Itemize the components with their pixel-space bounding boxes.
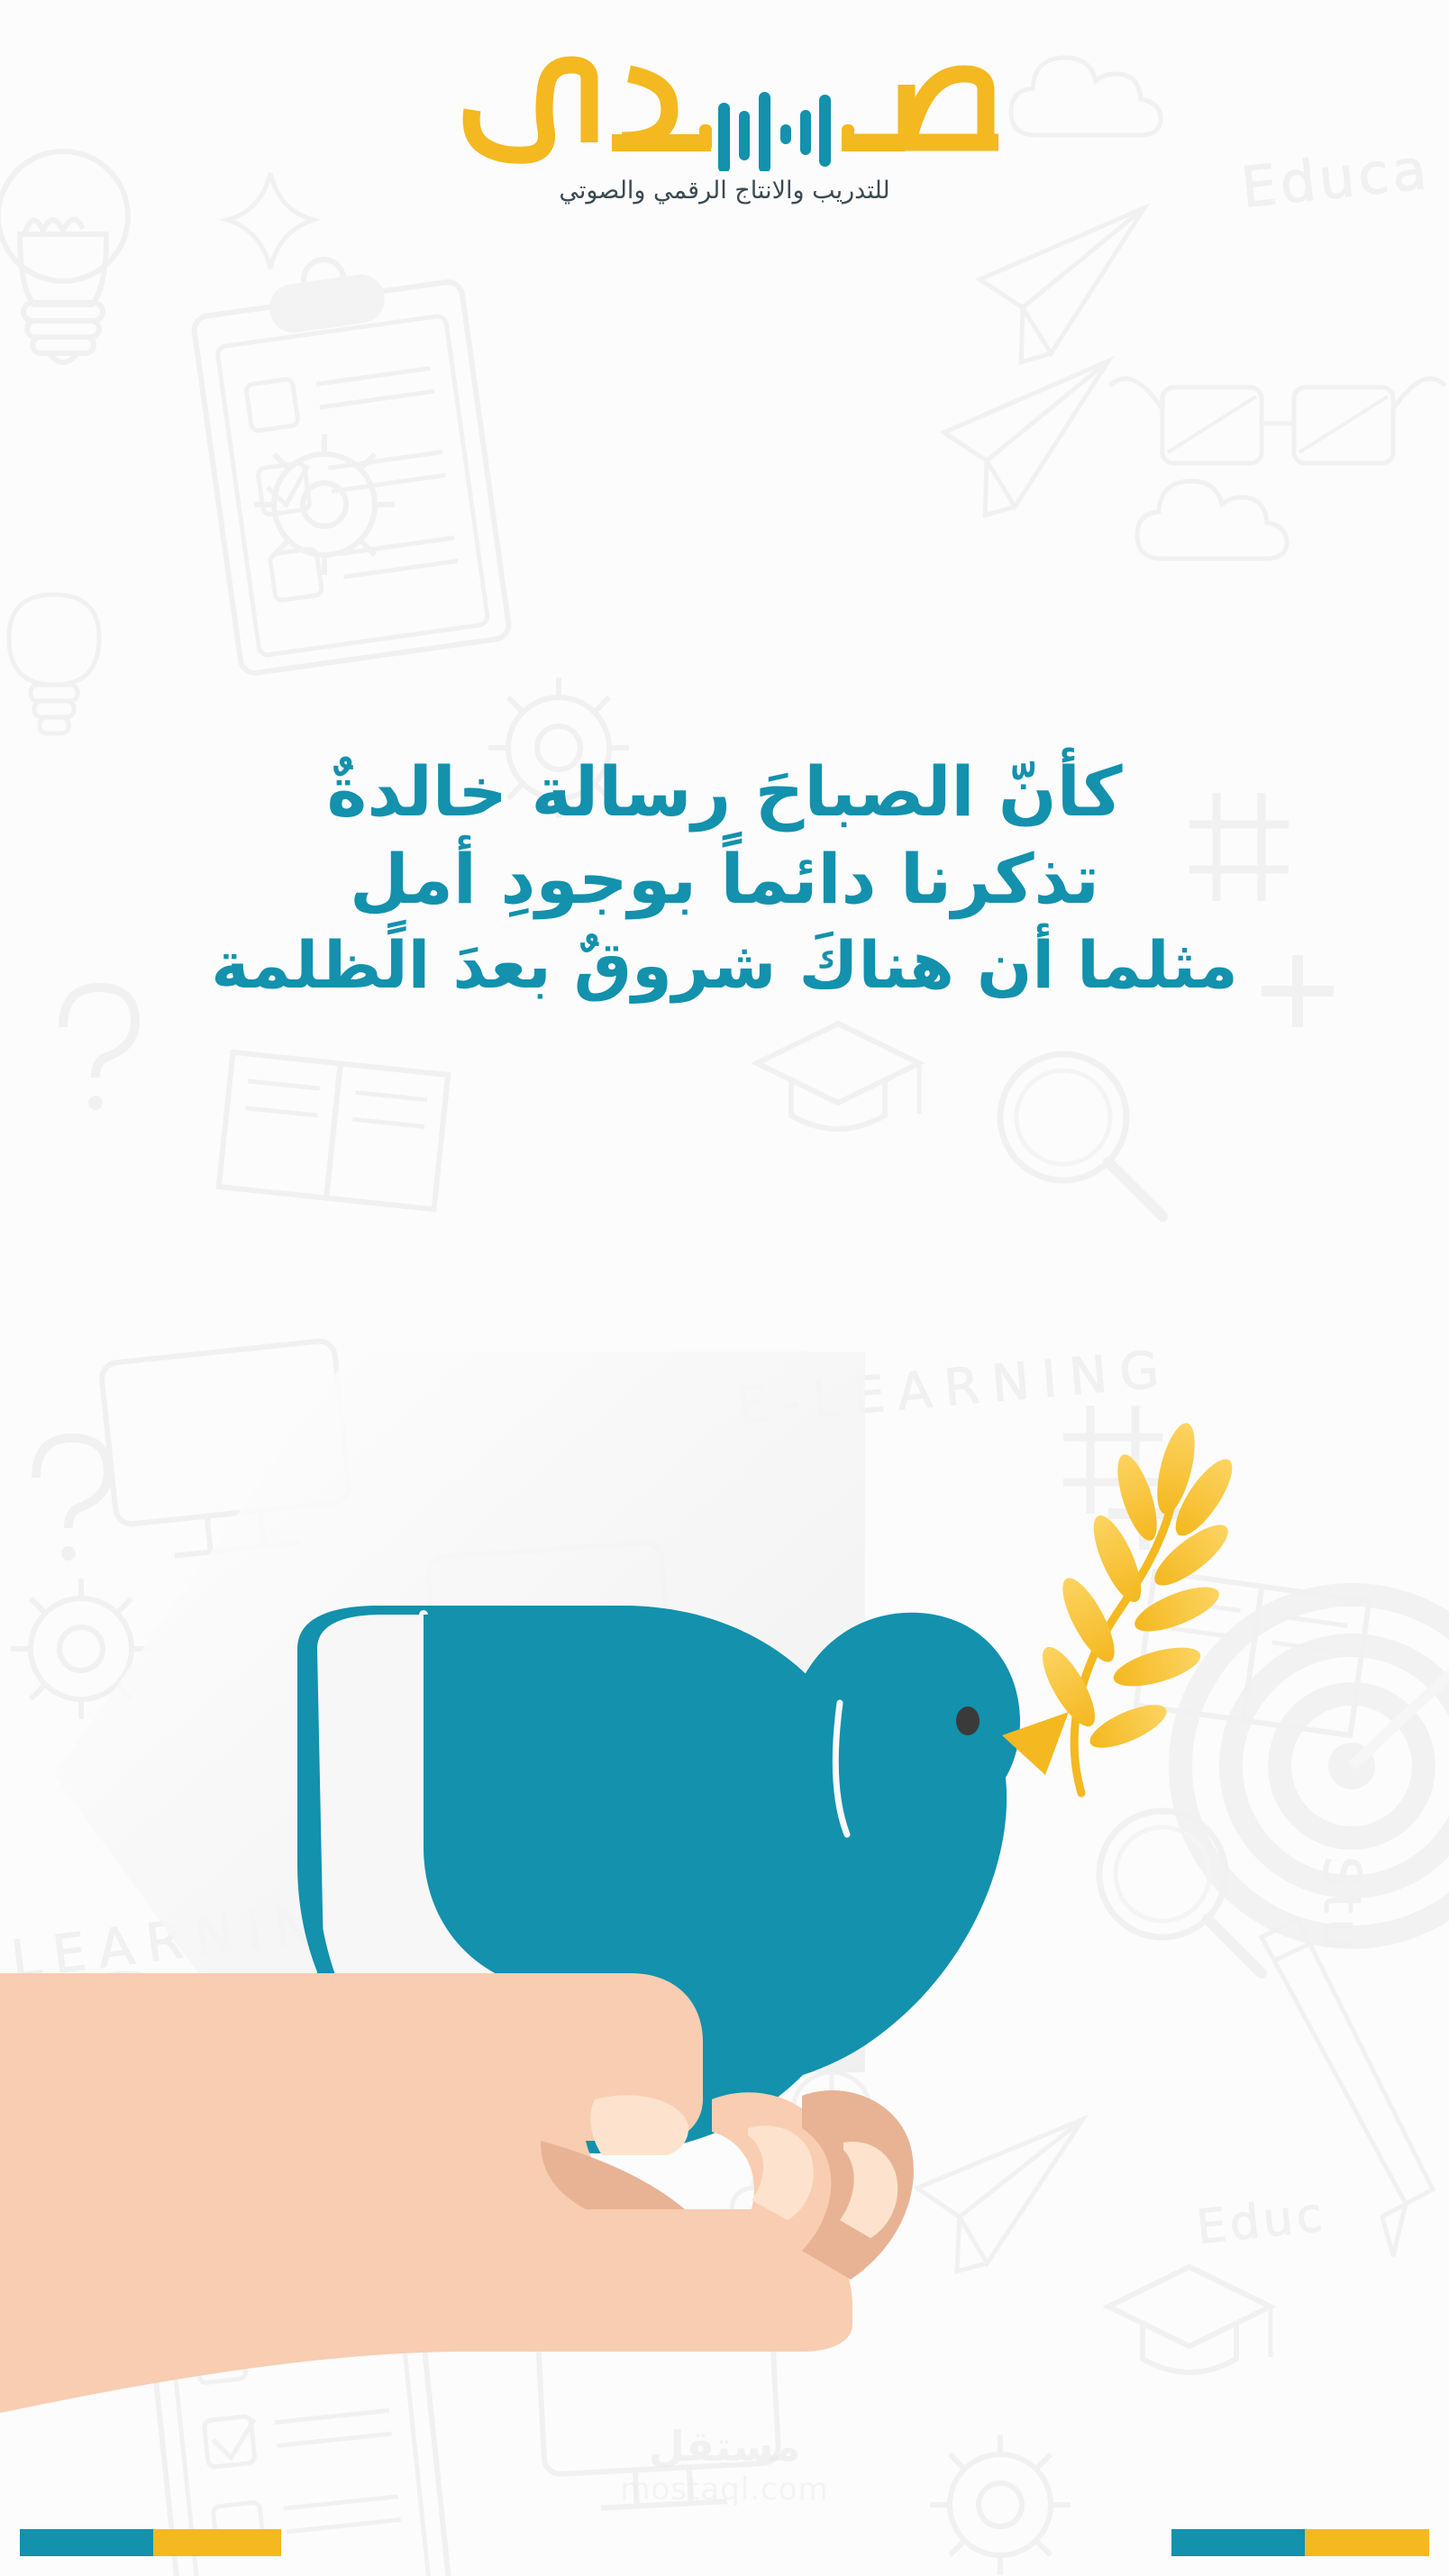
watermark-domain: mostaql.com	[0, 2471, 1449, 2508]
svg-text:E-LEARNING: E-LEARNING	[735, 1340, 1174, 1436]
bar-right-teal	[1171, 2529, 1305, 2556]
brand-tagline: للتدريب والانتاج الرقمي والصوتي	[0, 177, 1449, 205]
svg-text:-LEARNING: -LEARNING	[0, 1885, 382, 1995]
logo-wordmark-sada	[445, 54, 1004, 171]
brand-logo: للتدريب والانتاج الرقمي والصوتي	[0, 54, 1449, 205]
bar-left-yellow	[153, 2529, 281, 2556]
background-doodle-pattern: Educa E-LEARNING -LEARNING Stu Educ	[0, 0, 1449, 2576]
bar-left-teal	[20, 2529, 153, 2556]
mostaql-watermark: مستقل mostaql.com	[0, 2424, 1449, 2508]
svg-text:Stu: Stu	[1312, 1856, 1371, 1956]
headline-line-3: مثلما أن هناكَ شروقٌ بعدَ الًظلمة	[36, 924, 1413, 1006]
bar-right-yellow	[1305, 2529, 1429, 2556]
svg-text:Educ: Educ	[1194, 2188, 1328, 2255]
headline-line-1: كأنّ الصباحَ رسالة خالدةٌ	[36, 748, 1413, 835]
open-hand-illustration	[0, 1964, 1045, 2469]
dove-body	[297, 1606, 1069, 2153]
bottom-accent-bars	[0, 2529, 1449, 2556]
dove-illustration	[0, 1288, 1449, 2189]
paper-sheet-backdrop	[54, 1324, 865, 2117]
olive-branch	[1033, 1419, 1242, 1793]
dove-eye	[956, 1707, 980, 1735]
headline-line-2: تذكرنا دائماً بوجودِ أمل	[36, 835, 1413, 923]
headline-block: كأنّ الصباحَ رسالة خالدةٌ تذكرنا دائماً …	[0, 748, 1449, 1006]
watermark-arabic: مستقل	[0, 2424, 1449, 2470]
poster-canvas: Educa E-LEARNING -LEARNING Stu Educ	[0, 0, 1449, 2576]
